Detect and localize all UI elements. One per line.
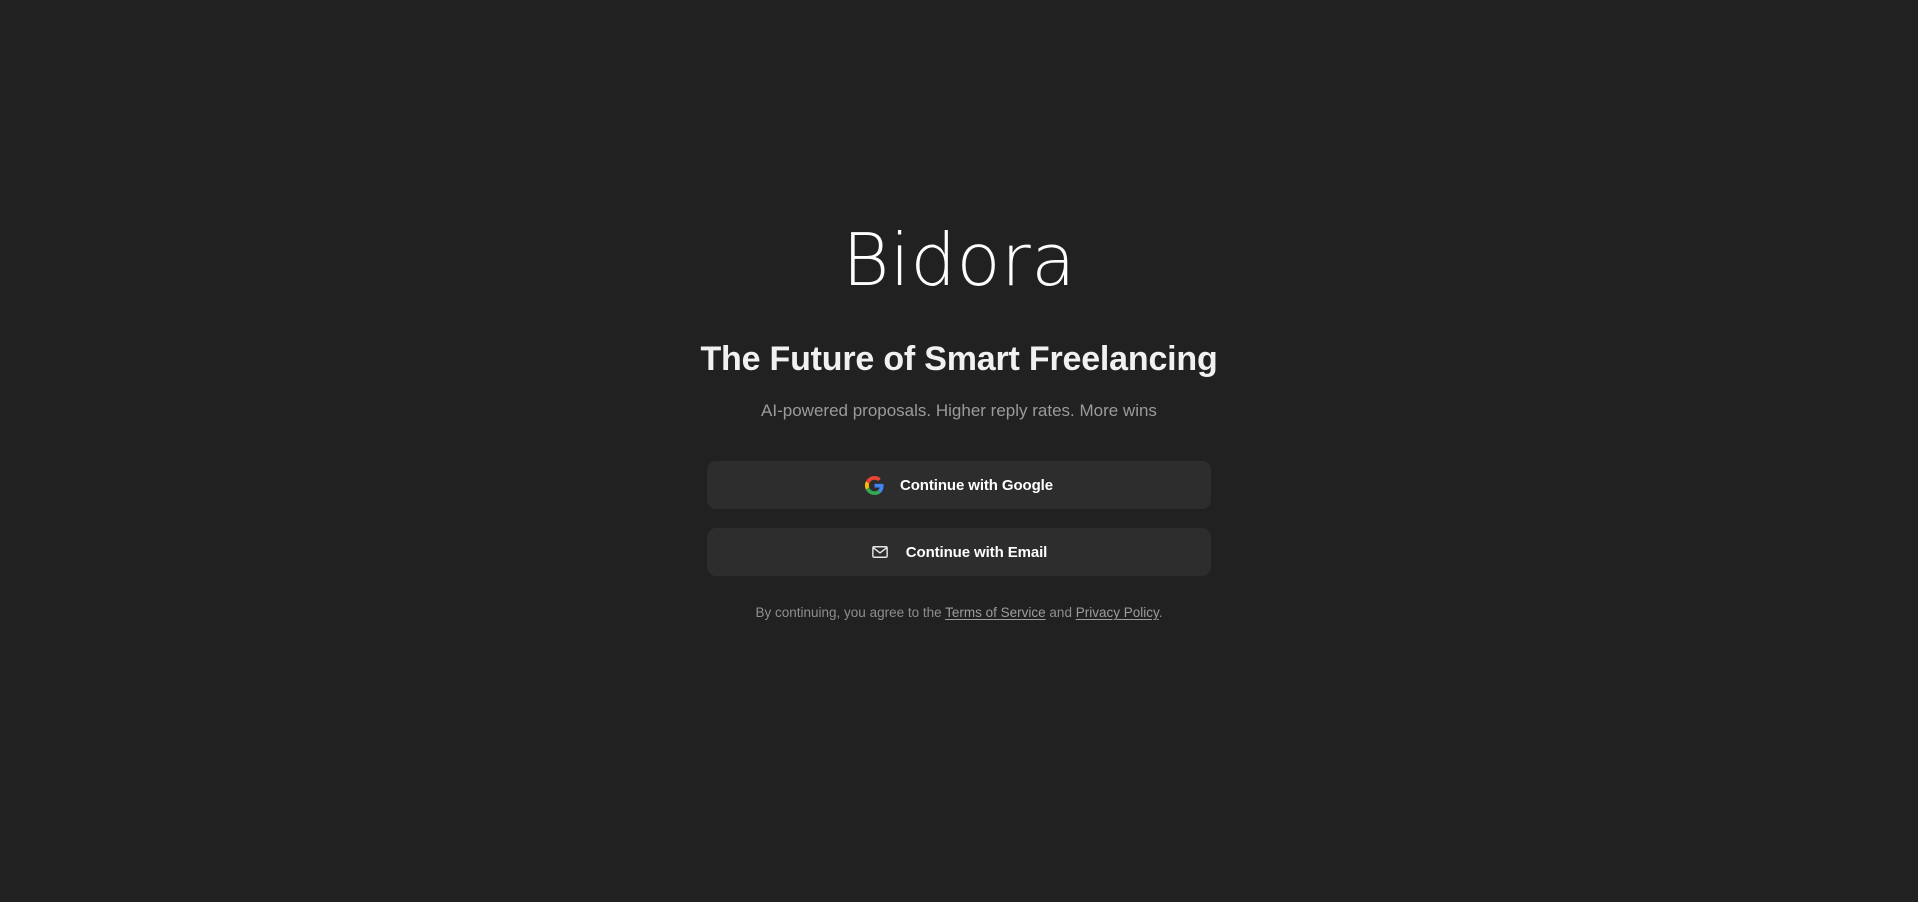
google-icon xyxy=(865,476,884,495)
legal-conjunction: and xyxy=(1046,605,1076,620)
privacy-policy-link[interactable]: Privacy Policy xyxy=(1076,605,1159,620)
legal-disclaimer: By continuing, you agree to the Terms of… xyxy=(756,604,1163,623)
auth-landing-page: Bidora The Future of Smart Freelancing A… xyxy=(0,0,1918,902)
auth-card: Bidora The Future of Smart Freelancing A… xyxy=(651,224,1267,623)
envelope-icon xyxy=(871,543,890,562)
continue-with-email-label: Continue with Email xyxy=(906,545,1047,560)
page-title: The Future of Smart Freelancing xyxy=(700,340,1217,379)
continue-with-google-button[interactable]: Continue with Google xyxy=(707,461,1211,509)
continue-with-google-label: Continue with Google xyxy=(900,478,1053,493)
legal-suffix: . xyxy=(1159,605,1163,620)
terms-of-service-link[interactable]: Terms of Service xyxy=(945,605,1046,620)
auth-button-group: Continue with Google Continue with Email xyxy=(707,461,1211,576)
continue-with-email-button[interactable]: Continue with Email xyxy=(707,528,1211,576)
brand-logo: Bidora xyxy=(842,224,1076,296)
page-subtitle: AI-powered proposals. Higher reply rates… xyxy=(761,400,1157,422)
legal-prefix: By continuing, you agree to the xyxy=(756,605,946,620)
